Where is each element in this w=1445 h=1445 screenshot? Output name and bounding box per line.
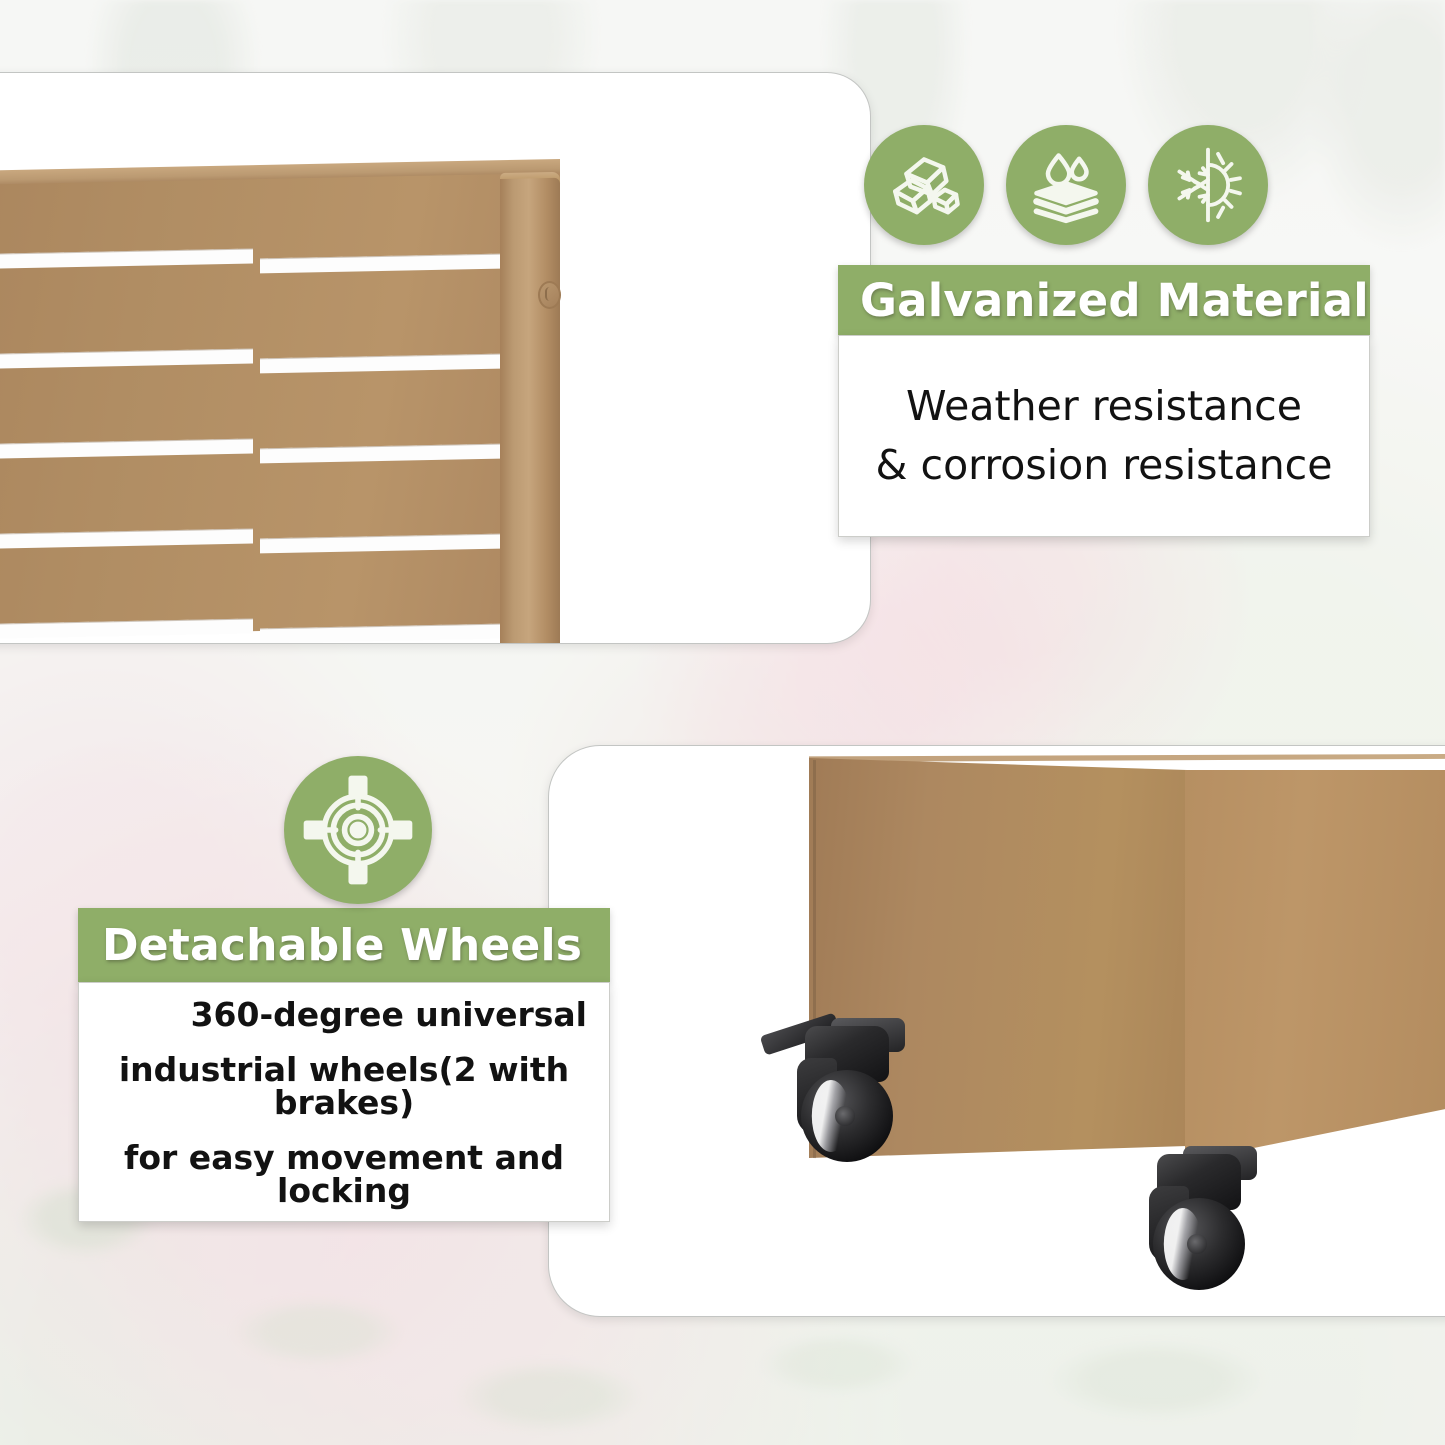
wheels-body-line-3: for easy movement and locking <box>95 1141 593 1207</box>
galvanized-body-line-2: & corrosion resistance <box>853 436 1355 495</box>
cabinet-top-highlight <box>809 754 1445 762</box>
panel-right-post <box>500 178 560 644</box>
wheels-body-line-1: 360-degree universal <box>95 998 593 1031</box>
bottom-product-photo-panel <box>548 745 1445 1317</box>
wheels-icon-row <box>284 756 432 904</box>
product-feature-infographic: Galvanized Material Weather resistance &… <box>0 0 1445 1445</box>
galvanized-body: Weather resistance & corrosion resistanc… <box>838 335 1370 537</box>
cabinet-with-casters <box>801 746 1445 1306</box>
post-screw-icon <box>538 281 561 309</box>
galvanized-icon-row <box>864 125 1268 245</box>
galvanized-title-banner: Galvanized Material <box>838 265 1370 335</box>
wheels-title-banner: Detachable Wheels <box>78 908 610 982</box>
metal-ingots-icon <box>864 125 984 245</box>
crosshair-target-icon <box>284 756 432 904</box>
caster-hub <box>835 1106 855 1126</box>
snowflake-sun-icon <box>1148 125 1268 245</box>
water-drops-on-layers-icon <box>1006 125 1126 245</box>
slatted-panel-product <box>0 173 670 643</box>
feature-card-wheels: Detachable Wheels 360-degree universal i… <box>78 908 610 1222</box>
wheels-body: 360-degree universal industrial wheels(2… <box>78 982 610 1222</box>
feature-card-galvanized: Galvanized Material Weather resistance &… <box>838 265 1370 537</box>
caster-wheel-with-brake <box>783 1014 911 1174</box>
caster-wheel <box>1135 1142 1263 1302</box>
caster-hub <box>1187 1234 1207 1254</box>
galvanized-body-line-1: Weather resistance <box>853 377 1355 436</box>
wheels-title: Detachable Wheels <box>102 920 582 971</box>
panel-body <box>0 173 560 639</box>
top-product-photo-panel <box>0 72 871 644</box>
galvanized-title: Galvanized Material <box>860 274 1369 327</box>
cabinet-side-face <box>1185 770 1445 1162</box>
wheels-body-line-2: industrial wheels(2 with brakes) <box>95 1053 593 1119</box>
